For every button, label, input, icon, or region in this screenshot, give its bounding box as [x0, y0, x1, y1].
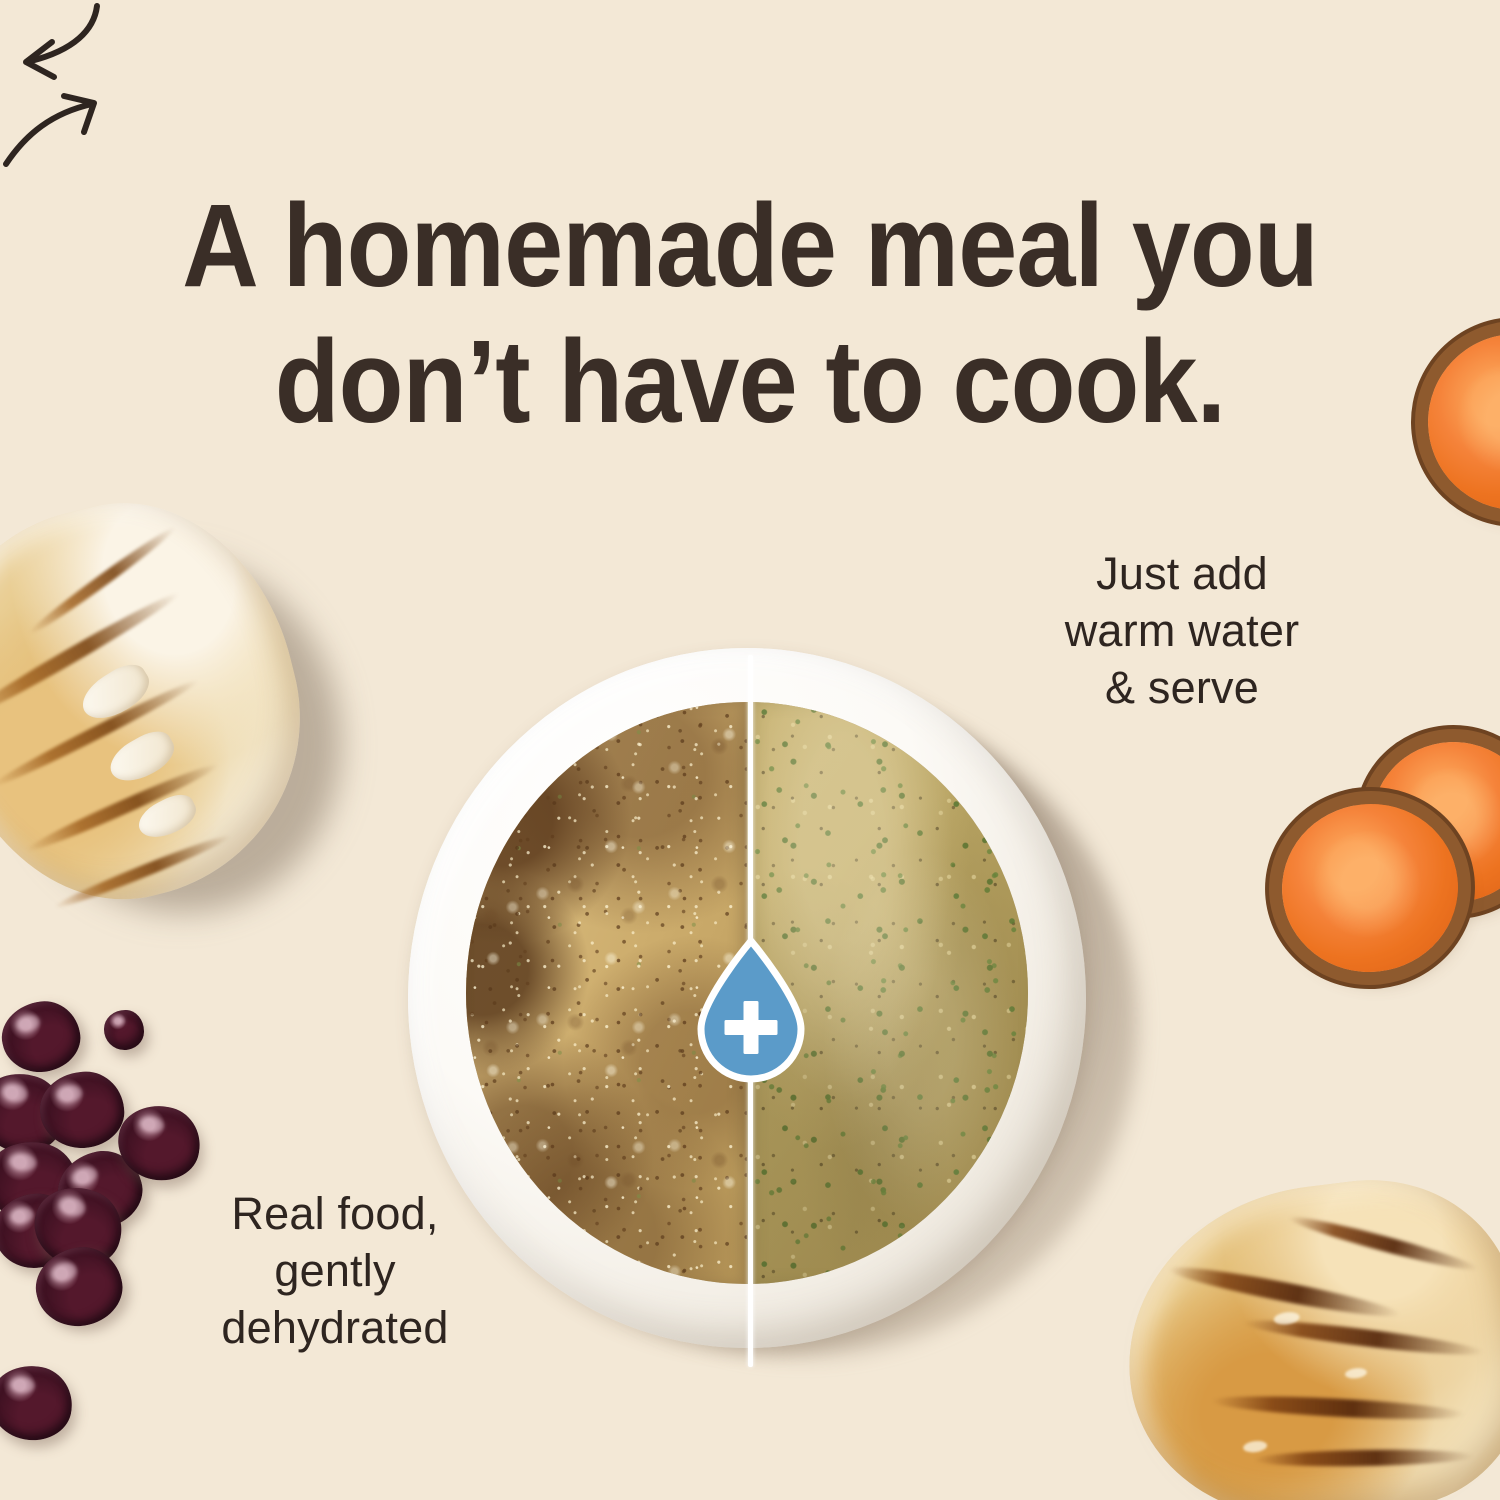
annotation-right-line-1: Just add [1012, 545, 1352, 602]
water-drop-plus-badge [693, 938, 809, 1084]
annotation-left-line-3: dehydrated [160, 1299, 510, 1356]
fish-fillet-prop [0, 480, 344, 950]
dried-cranberry [104, 1010, 144, 1050]
fish-sear-mark [26, 523, 179, 639]
annotation-just-add-warm-water: Just add warm water & serve [1012, 545, 1352, 716]
headline-line-1: A homemade meal you [75, 178, 1425, 314]
page-title: A homemade meal you don’t have to cook. [75, 178, 1425, 450]
chicken-gloss-highlight [1243, 1440, 1268, 1454]
dried-cranberry [0, 1362, 76, 1444]
annotation-left-line-2: gently [160, 1242, 510, 1299]
chicken-grill-mark [1253, 1448, 1473, 1468]
annotation-left-line-1: Real food, [160, 1185, 510, 1242]
dried-cranberry [0, 995, 86, 1080]
arrow-down-left-icon [0, 0, 140, 90]
chicken-breast-prop [1128, 1176, 1500, 1500]
annotation-real-food-gently-dehydrated: Real food, gently dehydrated [160, 1185, 510, 1356]
product-graphic-canvas: A homemade meal you don’t have to cook. … [0, 0, 1500, 1500]
chicken-grill-mark [1211, 1392, 1466, 1423]
chicken-gloss-highlight [1344, 1367, 1367, 1380]
chicken-grill-mark [1287, 1211, 1480, 1276]
chicken-body [1109, 1163, 1500, 1500]
annotation-right-line-2: warm water [1012, 602, 1352, 659]
annotation-right-line-3: & serve [1012, 659, 1352, 716]
headline-line-2: don’t have to cook. [75, 314, 1425, 450]
arrow-up-right-icon [0, 90, 120, 176]
